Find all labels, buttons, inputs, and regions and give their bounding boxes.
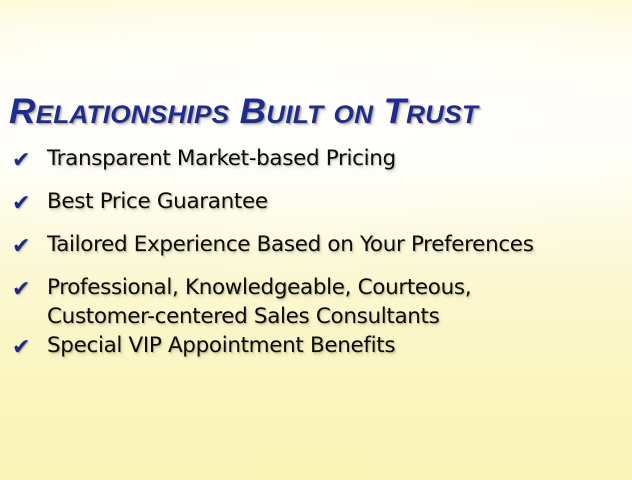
slide-content: Relationships Built on Trust ✔ Transpare… — [0, 0, 632, 480]
list-item: ✔ Professional, Knowledgeable, Courteous… — [0, 273, 632, 331]
check-mark-icon: ✔ — [12, 277, 34, 303]
list-item-label: Tailored Experience Based on Your Prefer… — [47, 230, 632, 259]
list-item: ✔ Best Price Guarantee — [0, 187, 632, 230]
list-item: ✔ Transparent Market-based Pricing — [0, 144, 632, 187]
slide-canvas: Relationships Built on Trust ✔ Transpare… — [0, 0, 632, 480]
list-item: ✔ Tailored Experience Based on Your Pref… — [0, 230, 632, 273]
check-mark-icon: ✔ — [12, 234, 34, 260]
check-mark-icon: ✔ — [12, 335, 34, 361]
list-item-label: Professional, Knowledgeable, Courteous, … — [47, 273, 632, 331]
benefits-list: ✔ Transparent Market-based Pricing ✔ Bes… — [0, 144, 632, 374]
list-item-label: Transparent Market-based Pricing — [47, 144, 632, 173]
page-title: Relationships Built on Trust — [9, 92, 632, 132]
check-mark-icon: ✔ — [12, 148, 34, 174]
list-item-label: Special VIP Appointment Benefits — [47, 331, 632, 360]
list-item-label: Best Price Guarantee — [47, 187, 632, 216]
list-item: ✔ Special VIP Appointment Benefits — [0, 331, 632, 374]
check-mark-icon: ✔ — [12, 191, 34, 217]
